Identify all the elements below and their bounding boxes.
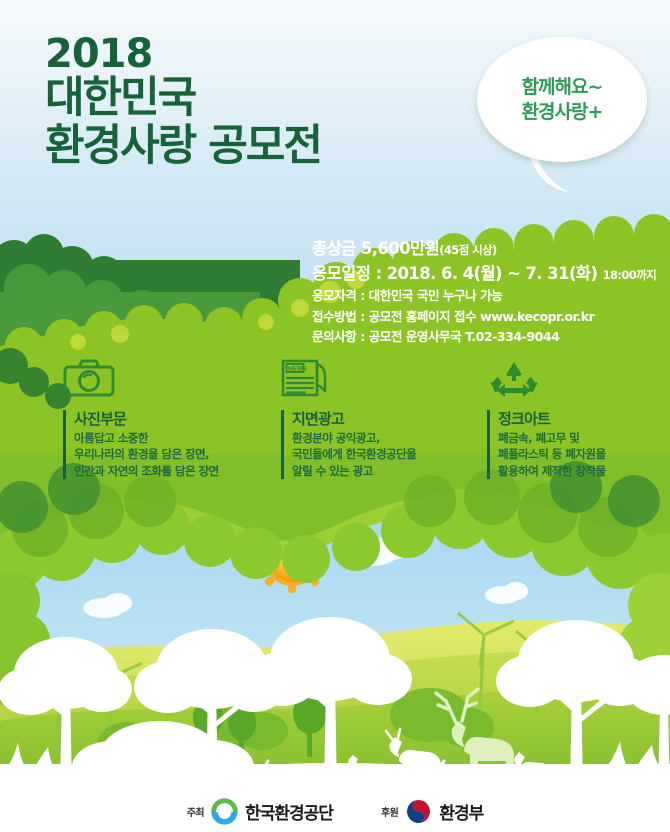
category-photo: 사진부문 아름답고 소중한 우리나라의 환경을 담은 장면, 인간과 자연의 조… bbox=[63, 358, 219, 479]
bubble-line-2: 환경사랑+ bbox=[522, 100, 603, 124]
category-print-ad-line-3: 알릴 수 있는 광고 bbox=[292, 463, 416, 480]
category-junk-art-text: 정크아트 폐금속, 폐고무 및 폐플라스틱 등 폐자원을 활용하여 제작한 창작… bbox=[487, 410, 606, 479]
landscape-illustration bbox=[0, 455, 670, 805]
title-line-1: 대한민국 bbox=[45, 74, 321, 122]
prize-label: 총상금 5,600만원 bbox=[312, 239, 439, 258]
poster-canvas: 2018 대한민국 환경사랑 공모전 함께해요~ 환경사랑+ 총상금 5,600… bbox=[0, 0, 670, 832]
speech-bubble: 함께해요~ 환경사랑+ bbox=[477, 37, 647, 162]
submission-line: 접수방법 : 공모전 홈페이지 접수 www.kecopr.or.kr bbox=[312, 307, 656, 327]
category-junk-art-line-2: 폐플라스틱 등 폐자원을 bbox=[498, 446, 606, 463]
category-print-ad-text: 지면광고 환경분야 공익광고, 국민들에게 한국환경공단을 알릴 수 있는 광고 bbox=[281, 410, 416, 479]
category-print-ad-line-1: 환경분야 공익광고, bbox=[292, 430, 416, 447]
category-print-ad: NEWS 지면광고 환경분야 공익광고, 국민들에게 한국환경공단을 알릴 수 … bbox=[281, 358, 416, 479]
newspaper-icon: NEWS bbox=[281, 358, 329, 398]
category-print-ad-line-2: 국민들에게 한국환경공단을 bbox=[292, 446, 416, 463]
category-junk-art-line-3: 활용하여 제작한 창작물 bbox=[498, 463, 606, 480]
sponsor-name: 환경부 bbox=[439, 799, 483, 824]
eligibility-line: 응모자격 : 대한민국 국민 누구나 가능 bbox=[312, 286, 656, 306]
poster-title: 2018 대한민국 환경사랑 공모전 bbox=[45, 34, 321, 170]
category-junk-art-heading: 정크아트 bbox=[498, 410, 606, 430]
category-photo-text: 사진부문 아름답고 소중한 우리나라의 환경을 담은 장면, 인간과 자연의 조… bbox=[63, 410, 219, 479]
taegeuk-logo bbox=[405, 798, 432, 825]
prize-line: 총상금 5,600만원(45점 시상) bbox=[312, 236, 656, 261]
category-print-ad-heading: 지면광고 bbox=[292, 410, 416, 430]
host-name: 한국환경공단 bbox=[245, 799, 333, 824]
category-junk-art: 정크아트 폐금속, 폐고무 및 폐플라스틱 등 폐자원을 활용하여 제작한 창작… bbox=[487, 358, 606, 479]
category-photo-line-3: 인간과 자연의 조화를 담은 장면 bbox=[74, 463, 219, 480]
contest-info-block: 총상금 5,600만원(45점 시상) 응모일정 : 2018. 6. 4(월)… bbox=[312, 236, 656, 347]
category-section: 사진부문 아름답고 소중한 우리나라의 환경을 담은 장면, 인간과 자연의 조… bbox=[0, 358, 670, 478]
camera-icon bbox=[63, 358, 115, 398]
category-photo-line-1: 아름답고 소중한 bbox=[74, 430, 219, 447]
sponsor-label: 후원 bbox=[381, 804, 398, 819]
footer-sponsor: 후원 환경부 bbox=[381, 798, 483, 825]
newspaper-label: NEWS bbox=[288, 366, 307, 373]
title-year: 2018 bbox=[45, 34, 321, 74]
schedule-line: 응모일정 : 2018. 6. 4(월) ~ 7. 31(화) 18:00까지 bbox=[312, 261, 656, 286]
contact-line: 문의사항 : 공모전 운영사무국 T.02-334-9044 bbox=[312, 327, 656, 347]
footer-host: 주최 한국환경공단 bbox=[187, 798, 333, 825]
title-line-2: 환경사랑 공모전 bbox=[45, 122, 321, 170]
schedule-label: 응모일정 : 2018. 6. 4(월) ~ 7. 31(화) bbox=[312, 264, 597, 283]
keco-ring-logo bbox=[211, 798, 238, 825]
host-label: 주최 bbox=[187, 804, 204, 819]
poster-footer: 주최 한국환경공단 후원 환경부 bbox=[0, 790, 670, 832]
category-junk-art-line-1: 폐금속, 폐고무 및 bbox=[498, 430, 606, 447]
category-photo-heading: 사진부문 bbox=[74, 410, 219, 430]
schedule-note: 18:00까지 bbox=[603, 268, 657, 282]
bubble-line-1: 함께해요~ bbox=[522, 75, 603, 99]
recycle-icon bbox=[487, 358, 541, 398]
prize-note: (45점 시상) bbox=[439, 243, 496, 257]
category-photo-line-2: 우리나라의 환경을 담은 장면, bbox=[74, 446, 219, 463]
